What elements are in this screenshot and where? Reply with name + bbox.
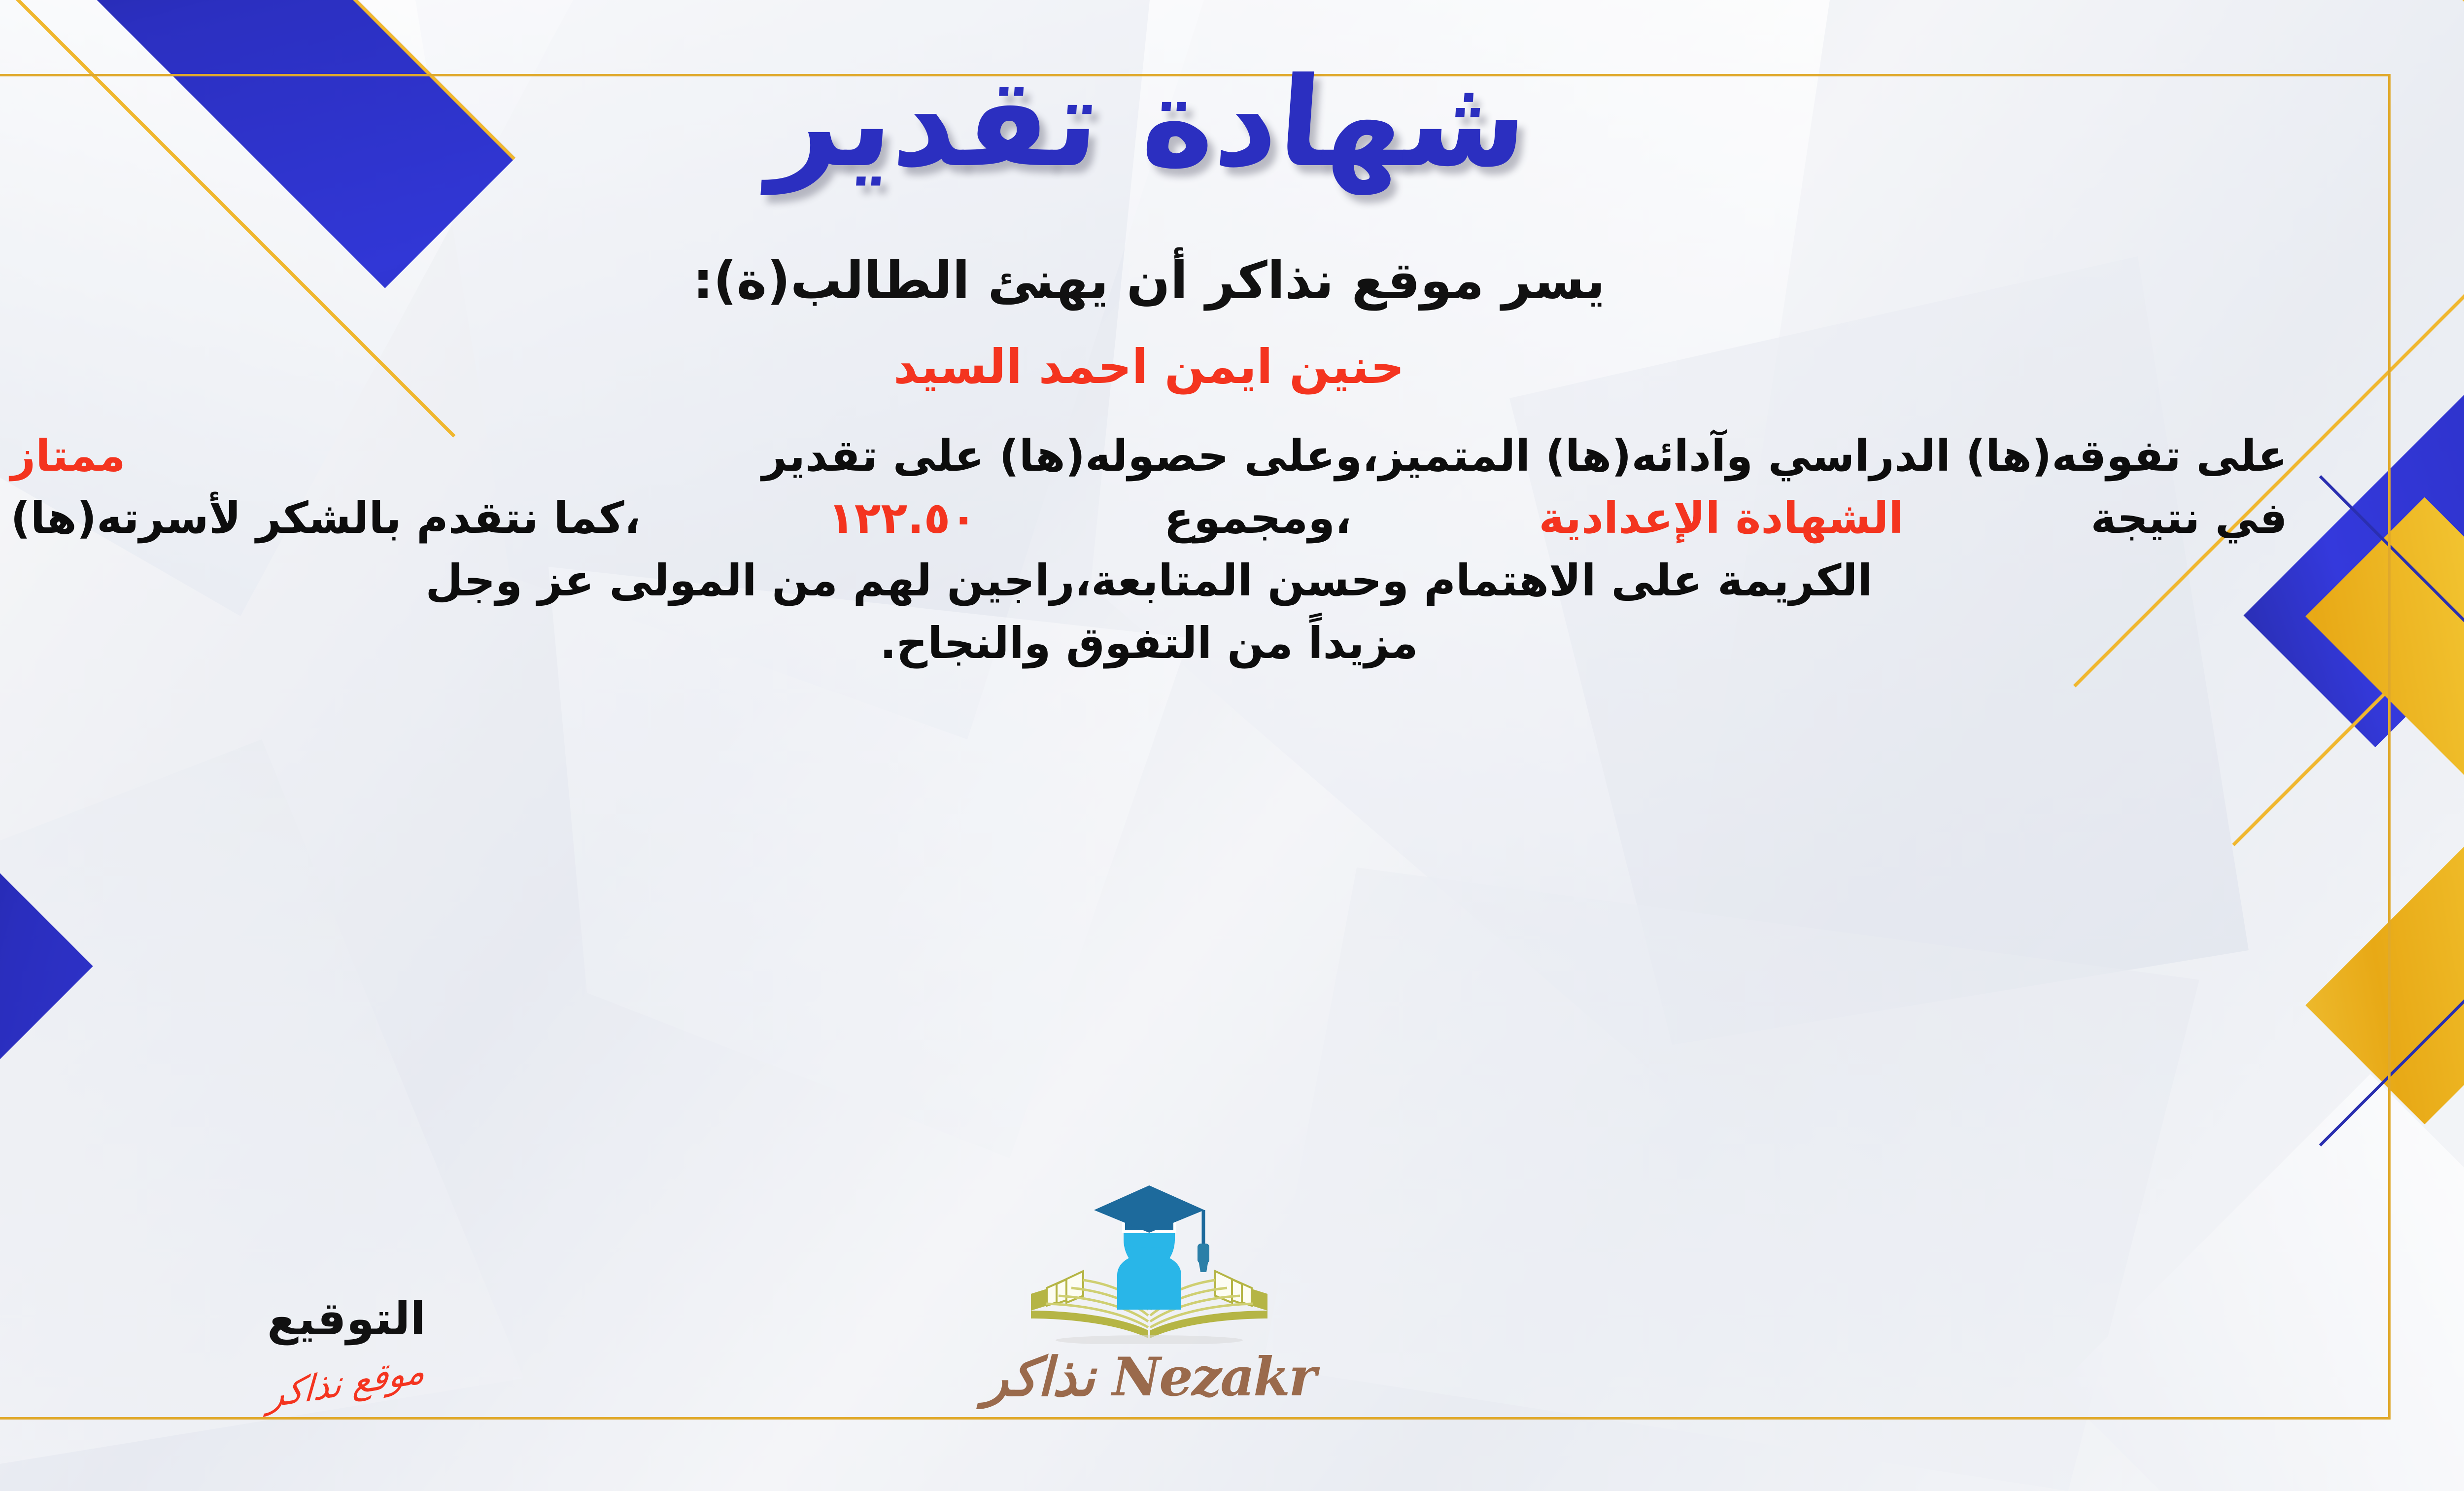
- brand-wordmark: Nezakr نذاكر: [983, 1346, 1315, 1408]
- page-title: شهادة تقدير: [766, 52, 1532, 194]
- intro-text: يسر موقع نذاكر أن يهنئ الطالب(ة):: [693, 250, 1605, 311]
- signature-label: التوقيع: [218, 1292, 475, 1345]
- signature-script: موقع نذاكر: [219, 1341, 474, 1423]
- body-line-1: على تفوقه(ها) الدراسي وآدائه(ها) المتميز…: [11, 425, 2288, 487]
- signature-block: التوقيع موقع نذاكر: [218, 1292, 475, 1403]
- brand-logo: Nezakr نذاكر: [967, 1181, 1332, 1408]
- student-name: حنين ايمن احمد السيد: [893, 339, 1404, 394]
- certificate-canvas: شهادة تقدير يسر موقع نذاكر أن يهنئ الطال…: [0, 0, 2464, 1491]
- total-label: ،ومجموع: [1164, 487, 1351, 550]
- body-line-3: الكريمة على الاهتمام وحسن المتابعة،راجين…: [11, 550, 2288, 612]
- result-prefix: في نتيجة: [2091, 487, 2288, 550]
- total-score: ١٢٢.٥٠: [828, 487, 977, 550]
- body-line-1-text: على تفوقه(ها) الدراسي وآدائه(ها) المتميز…: [762, 425, 2287, 487]
- exam-name: الشهادة الإعدادية: [1539, 487, 1903, 550]
- thanks-prefix: ،كما نتقدم بالشكر لأسرته(ها): [11, 487, 641, 550]
- body-line-4: مزيداً من التفوق والنجاح.: [11, 612, 2288, 675]
- grade-value: ممتاز: [11, 425, 126, 487]
- certificate-body: على تفوقه(ها) الدراسي وآدائه(ها) المتميز…: [11, 425, 2288, 675]
- certificate-content: شهادة تقدير يسر موقع نذاكر أن يهنئ الطال…: [0, 0, 2464, 1491]
- body-line-2: في نتيجة الشهادة الإعدادية ،ومجموع ١٢٢.٥…: [11, 487, 2288, 550]
- logo-graphic: [1011, 1181, 1287, 1344]
